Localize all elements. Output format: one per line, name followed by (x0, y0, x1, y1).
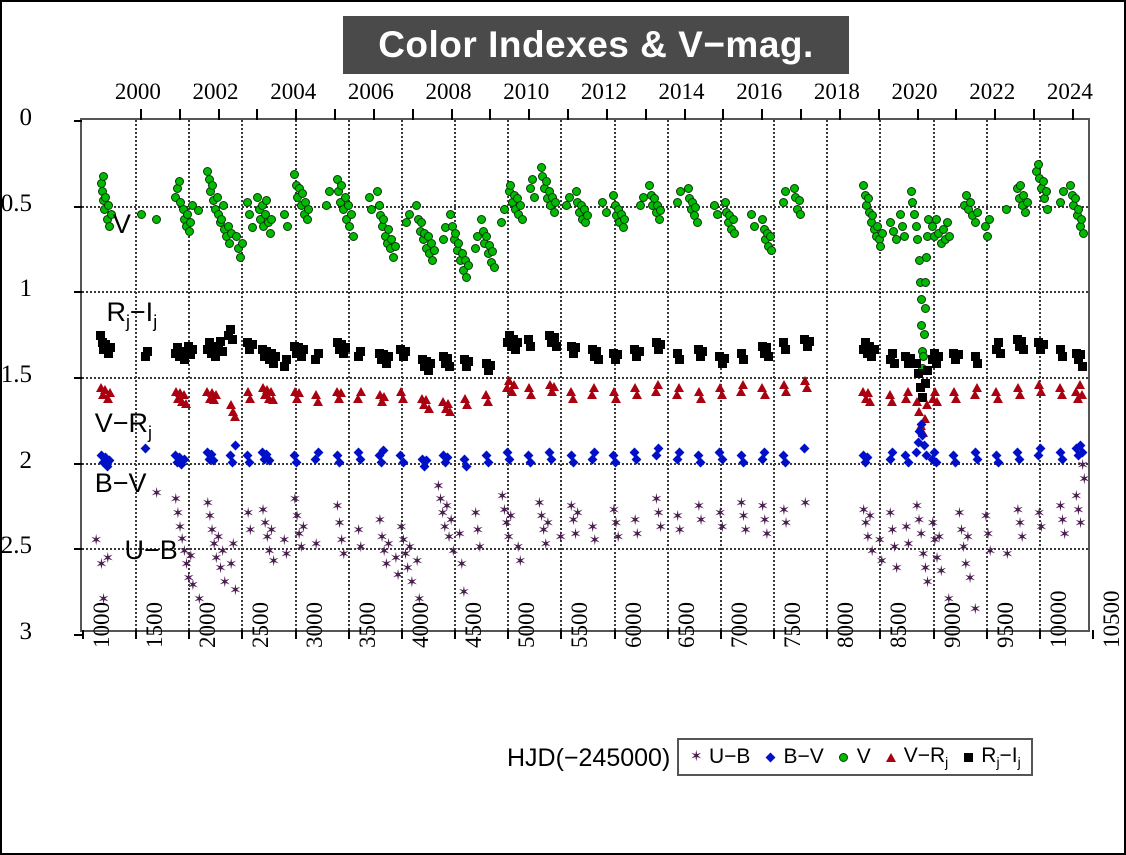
data-point-UB: ✶ (953, 506, 966, 521)
data-point-UB: ✶ (693, 499, 706, 514)
data-point-UB: ✶ (911, 499, 924, 514)
data-point-V (266, 229, 275, 238)
data-point-RjIj (399, 352, 408, 361)
data-point-VRj (885, 390, 895, 399)
data-point-BV (100, 453, 110, 463)
bottom-tick (773, 630, 775, 639)
data-point-UB: ✶ (201, 496, 214, 511)
data-point-UB: ✶ (265, 523, 278, 538)
data-point-V (620, 215, 629, 224)
legend-item-VR[interactable]: V−Rj (884, 744, 949, 770)
data-point-VRj (1077, 390, 1087, 399)
data-point-UB: ✶ (170, 492, 183, 507)
data-point-UB: ✶ (875, 554, 888, 569)
data-point-RjIj (486, 361, 495, 370)
data-point-RjIj (445, 362, 454, 371)
data-point-RjIj (800, 335, 809, 344)
data-point-VRj (861, 394, 871, 403)
data-point-RjIj (656, 340, 665, 349)
plot-area: ✶✶✶✶✶✶✶✶✶✶✶✶✶✶✶✶✶✶✶✶✶✶✶✶✶✶✶✶✶✶✶✶✶✶✶✶✶✶✶✶… (80, 118, 1090, 632)
data-point-VRj (863, 388, 873, 397)
data-point-RjIj (1013, 335, 1022, 344)
data-point-V (650, 194, 659, 203)
data-point-VRj (258, 383, 268, 392)
top-tick (295, 109, 297, 120)
data-point-RjIj (904, 359, 913, 368)
data-point-RjIj (209, 342, 218, 351)
top-tick (800, 109, 802, 120)
data-point-UB: ✶ (799, 496, 812, 511)
plot-inner: ✶✶✶✶✶✶✶✶✶✶✶✶✶✶✶✶✶✶✶✶✶✶✶✶✶✶✶✶✶✶✶✶✶✶✶✶✶✶✶✶… (82, 120, 1088, 630)
top-tick (1072, 109, 1074, 120)
data-point-V (471, 244, 480, 253)
data-point-V (538, 172, 547, 181)
data-point-V (917, 321, 926, 330)
data-point-V (583, 211, 592, 220)
data-point-V (758, 215, 767, 224)
legend-label: V (857, 745, 871, 769)
bottom-axis-label: 8000 (833, 602, 859, 648)
data-point-VRj (1075, 380, 1085, 389)
data-point-V (1013, 184, 1022, 193)
data-point-BV (171, 451, 181, 461)
data-point-UB: ✶ (913, 513, 926, 528)
data-point-RjIj (297, 352, 306, 361)
data-point-UB: ✶ (471, 523, 484, 538)
data-point-V (920, 330, 929, 339)
data-point-UB: ✶ (780, 516, 793, 531)
data-point-RjIj (923, 366, 932, 375)
bottom-axis-label: 5500 (567, 602, 593, 648)
data-point-VRj (1055, 383, 1065, 392)
left-axis-label: 2.5 (1, 532, 32, 560)
data-point-BV (226, 451, 236, 461)
data-point-VRj (377, 397, 387, 406)
data-point-VRj (651, 387, 661, 396)
data-point-VRj (207, 388, 217, 397)
data-point-V (477, 215, 486, 224)
data-point-RjIj (375, 349, 384, 358)
data-point-V (913, 235, 922, 244)
data-point-UB: ✶ (267, 554, 280, 569)
data-point-RjIj (439, 352, 448, 361)
data-point-VRj (630, 383, 640, 392)
data-point-V (917, 295, 926, 304)
data-point-BV (566, 451, 576, 461)
top-axis-label: 2002 (193, 79, 239, 105)
vertical-gridline (773, 120, 775, 630)
data-point-BV (970, 447, 980, 457)
data-point-VRj (105, 388, 115, 397)
data-point-V (652, 208, 661, 217)
data-point-VRj (202, 387, 212, 396)
data-point-RjIj (311, 355, 320, 364)
legend-label: Rj−Ij (981, 744, 1020, 770)
data-point-V (865, 208, 874, 217)
data-point-BV (913, 437, 923, 447)
top-tick (489, 109, 491, 120)
data-point-V (1076, 222, 1085, 231)
data-point-RjIj (886, 355, 895, 364)
data-point-VRj (419, 400, 429, 409)
top-axis-label: 2004 (270, 79, 316, 105)
data-point-UB: ✶ (352, 523, 365, 538)
data-point-UB: ✶ (1012, 503, 1025, 518)
data-point-VRj (1036, 387, 1046, 396)
data-point-V (761, 235, 770, 244)
data-point-V (365, 193, 374, 202)
data-point-UB: ✶ (671, 509, 684, 524)
data-point-V (727, 225, 736, 234)
data-point-V (528, 175, 537, 184)
data-point-UB: ✶ (1058, 527, 1071, 542)
data-point-UB: ✶ (962, 530, 975, 545)
data-point-V (262, 196, 271, 205)
data-point-V (213, 193, 222, 202)
data-point-V (939, 225, 948, 234)
bottom-tick (560, 630, 562, 639)
data-point-UB: ✶ (406, 575, 419, 590)
data-point-UB: ✶ (95, 557, 108, 572)
bottom-tick (454, 630, 456, 639)
data-point-V (886, 218, 895, 227)
data-point-UB: ✶ (291, 509, 304, 524)
data-point-RjIj (654, 345, 663, 354)
bottom-axis-label: 7000 (727, 602, 753, 648)
vertical-gridline (614, 120, 616, 630)
data-point-VRj (970, 390, 980, 399)
data-point-VRj (526, 390, 536, 399)
data-point-RjIj (96, 331, 105, 340)
data-point-RjIj (248, 340, 257, 349)
data-point-UB: ✶ (216, 544, 229, 559)
data-point-RjIj (207, 349, 216, 358)
data-point-RjIj (441, 359, 450, 368)
data-point-V (1016, 181, 1025, 190)
top-axis-label: 2020 (892, 79, 938, 105)
data-point-V (220, 225, 229, 234)
legend-item-BV[interactable]: B−V (763, 745, 823, 769)
left-axis-label: 0.5 (1, 190, 32, 218)
data-point-BV (991, 451, 1001, 461)
data-point-V (464, 261, 473, 270)
data-point-RjIj (203, 345, 212, 354)
top-axis-label: 2000 (115, 79, 161, 105)
data-point-UB: ✶ (174, 520, 187, 535)
bottom-axis-label: 10000 (1046, 591, 1072, 649)
data-point-V (513, 194, 522, 203)
data-point-RjIj (271, 352, 280, 361)
bottom-tick (826, 630, 828, 639)
data-point-VRj (98, 390, 108, 399)
data-point-VRj (632, 390, 642, 399)
data-point-BV (1073, 451, 1083, 461)
data-point-VRj (336, 388, 346, 397)
data-point-V (386, 244, 395, 253)
data-point-V (781, 187, 790, 196)
data-point-UB: ✶ (919, 561, 932, 576)
data-point-V (615, 218, 624, 227)
data-point-VRj (717, 390, 727, 399)
data-point-RjIj (1017, 337, 1026, 346)
data-point-V (337, 181, 346, 190)
data-point-RjIj (550, 333, 559, 342)
data-point-VRj (587, 390, 597, 399)
data-point-V (645, 181, 654, 190)
data-point-UB: ✶ (959, 557, 972, 572)
data-point-VRj (438, 397, 448, 406)
data-point-V (550, 208, 559, 217)
data-point-VRj (175, 388, 185, 397)
legend-label: B−V (783, 745, 823, 769)
data-point-UB: ✶ (761, 527, 774, 542)
data-point-V (767, 246, 776, 255)
data-point-RjIj (803, 342, 812, 351)
data-point-V (222, 232, 231, 241)
data-point-V (405, 210, 414, 219)
data-point-BV (916, 420, 926, 430)
data-point-UB: ✶ (535, 509, 548, 524)
data-point-UB: ✶ (567, 513, 580, 528)
bottom-tick (614, 630, 616, 639)
data-point-UB: ✶ (864, 509, 877, 524)
data-point-RjIj (916, 383, 925, 392)
data-point-V (175, 177, 184, 186)
data-point-UB: ✶ (456, 557, 469, 572)
data-point-RjIj (569, 349, 578, 358)
data-point-RjIj (996, 349, 1005, 358)
data-point-VRj (568, 394, 578, 403)
data-point-UB: ✶ (860, 516, 873, 531)
data-point-BV (202, 447, 212, 457)
data-point-RjIj (567, 342, 576, 351)
data-point-V (232, 232, 241, 241)
data-point-VRj (481, 390, 491, 399)
data-point-UB: ✶ (1078, 472, 1088, 487)
bottom-axis-label: 9500 (993, 602, 1019, 648)
data-point-V (543, 194, 552, 203)
data-point-VRj (375, 390, 385, 399)
data-point-RjIj (552, 342, 561, 351)
data-point-UB: ✶ (915, 527, 928, 542)
data-point-VRj (781, 387, 791, 396)
data-point-UB: ✶ (652, 506, 665, 521)
data-point-V (383, 239, 392, 248)
data-point-UB: ✶ (432, 479, 445, 494)
data-point-RjIj (1015, 342, 1024, 351)
data-point-RjIj (175, 352, 184, 361)
data-point-V (943, 218, 952, 227)
data-point-V (684, 184, 693, 193)
data-point-V (217, 215, 226, 224)
data-point-RjIj (588, 345, 597, 354)
data-point-BV (901, 451, 911, 461)
bottom-tick (295, 630, 297, 639)
data-point-BV (675, 447, 685, 457)
data-point-RjIj (760, 349, 769, 358)
top-axis-label: 2022 (969, 79, 1015, 105)
data-point-VRj (209, 395, 219, 404)
data-point-UB: ✶ (537, 523, 550, 538)
data-point-UB: ✶ (214, 561, 227, 576)
data-point-V (795, 196, 804, 205)
data-point-VRj (205, 394, 215, 403)
top-tick (334, 109, 336, 120)
data-point-BV (653, 444, 663, 454)
legend-marker-diamond-icon (763, 750, 777, 764)
data-point-V (425, 249, 434, 258)
data-point-V (729, 215, 738, 224)
data-point-V (479, 227, 488, 236)
data-point-RjIj (216, 337, 225, 346)
data-point-VRj (100, 385, 110, 394)
legend-item-V[interactable]: V (837, 745, 871, 769)
bottom-axis-label: 4500 (461, 602, 487, 648)
data-point-V (416, 227, 425, 236)
data-point-V (379, 215, 388, 224)
data-point-V (267, 215, 276, 224)
left-tick (74, 548, 82, 550)
data-point-VRj (441, 404, 451, 413)
data-point-VRj (972, 383, 982, 392)
data-point-UB: ✶ (884, 506, 897, 521)
data-point-V (730, 229, 739, 238)
data-point-VRj (524, 383, 534, 392)
data-point-UB: ✶ (331, 499, 344, 514)
data-point-V (173, 184, 182, 193)
bottom-tick (241, 630, 243, 639)
data-point-RjIj (101, 340, 110, 349)
data-point-UB: ✶ (378, 544, 391, 559)
data-point-BV (443, 453, 453, 463)
data-point-VRj (912, 397, 922, 406)
data-point-RjIj (218, 347, 227, 356)
data-point-V (1021, 208, 1030, 217)
bottom-axis-label: 10500 (1099, 591, 1125, 649)
data-point-V (945, 232, 954, 241)
data-point-RjIj (934, 352, 943, 361)
data-point-V (248, 223, 257, 232)
data-point-V (941, 235, 950, 244)
data-point-V (907, 187, 916, 196)
bottom-axis-label: 5000 (514, 602, 540, 648)
top-tick (218, 109, 220, 120)
data-point-V (750, 222, 759, 231)
data-point-UB: ✶ (982, 527, 995, 542)
data-point-VRj (211, 390, 221, 399)
data-point-BV (1077, 447, 1087, 457)
data-point-BV (918, 430, 928, 440)
legend-item-UB[interactable]: ✶U−B (689, 745, 750, 769)
data-point-UB: ✶ (1035, 520, 1048, 535)
data-point-RjIj (694, 345, 703, 354)
data-point-VRj (858, 387, 868, 396)
top-tick (684, 109, 686, 120)
top-tick (373, 109, 375, 120)
bottom-tick (507, 630, 509, 639)
data-point-VRj (96, 383, 106, 392)
data-point-RjIj (173, 343, 182, 352)
data-point-RjIj (781, 345, 790, 354)
data-point-V (214, 210, 223, 219)
data-point-BV (1036, 444, 1046, 454)
data-point-RjIj (258, 345, 267, 354)
vertical-gridline (401, 120, 403, 630)
data-point-UB: ✶ (533, 496, 546, 511)
data-point-VRj (1013, 383, 1023, 392)
data-point-VRj (313, 397, 323, 406)
data-point-RjIj (1019, 345, 1028, 354)
data-point-VRj (920, 414, 930, 423)
data-point-UB: ✶ (759, 513, 772, 528)
data-point-V (912, 222, 921, 231)
data-point-VRj (424, 404, 434, 413)
data-point-V (206, 187, 215, 196)
data-point-V (791, 193, 800, 202)
data-point-V (384, 225, 393, 234)
data-point-UB: ✶ (588, 533, 601, 548)
top-tick (994, 109, 996, 120)
left-tick (74, 206, 82, 208)
data-point-VRj (1057, 390, 1067, 399)
data-point-RjIj (333, 338, 342, 347)
data-point-UB: ✶ (180, 557, 193, 572)
data-point-RjIj (865, 342, 874, 351)
data-point-RjIj (267, 349, 276, 358)
data-point-RjIj (737, 349, 746, 358)
data-point-RjIj (171, 349, 180, 358)
data-point-UB: ✶ (229, 583, 242, 598)
legend-item-R[interactable]: Rj−Ij (961, 744, 1020, 770)
data-point-V (497, 218, 506, 227)
data-point-RjIj (98, 338, 107, 347)
data-point-UB: ✶ (90, 533, 103, 548)
data-point-V (505, 187, 514, 196)
data-point-VRj (611, 394, 621, 403)
data-point-V (216, 218, 225, 227)
data-point-VRj (547, 387, 557, 396)
data-point-UB: ✶ (1056, 513, 1069, 528)
data-point-RjIj (973, 359, 982, 368)
vertical-gridline (879, 120, 881, 630)
top-axis-label: 2014 (659, 79, 705, 105)
data-point-RjIj (262, 347, 271, 356)
data-point-V (419, 235, 428, 244)
data-point-RjIj (526, 342, 535, 351)
data-point-BV (375, 451, 385, 461)
bottom-axis-label: 2500 (248, 602, 274, 648)
data-point-BV (930, 447, 940, 457)
data-point-VRj (230, 412, 240, 421)
data-point-UB: ✶ (586, 520, 599, 535)
data-point-RjIj (635, 347, 644, 356)
data-point-V (690, 211, 699, 220)
data-point-V (99, 196, 108, 205)
data-point-V (639, 193, 648, 202)
data-point-RjIj (104, 349, 113, 358)
data-point-V (900, 232, 909, 241)
data-point-UB: ✶ (1070, 489, 1083, 504)
vertical-gridline (933, 120, 935, 630)
data-point-UB: ✶ (259, 516, 272, 531)
data-point-BV (175, 453, 185, 463)
data-point-V (473, 232, 482, 241)
data-point-V (921, 304, 930, 313)
data-point-BV (1075, 441, 1085, 451)
data-point-RjIj (1036, 345, 1045, 354)
data-point-V (402, 218, 411, 227)
data-point-BV (912, 447, 922, 457)
